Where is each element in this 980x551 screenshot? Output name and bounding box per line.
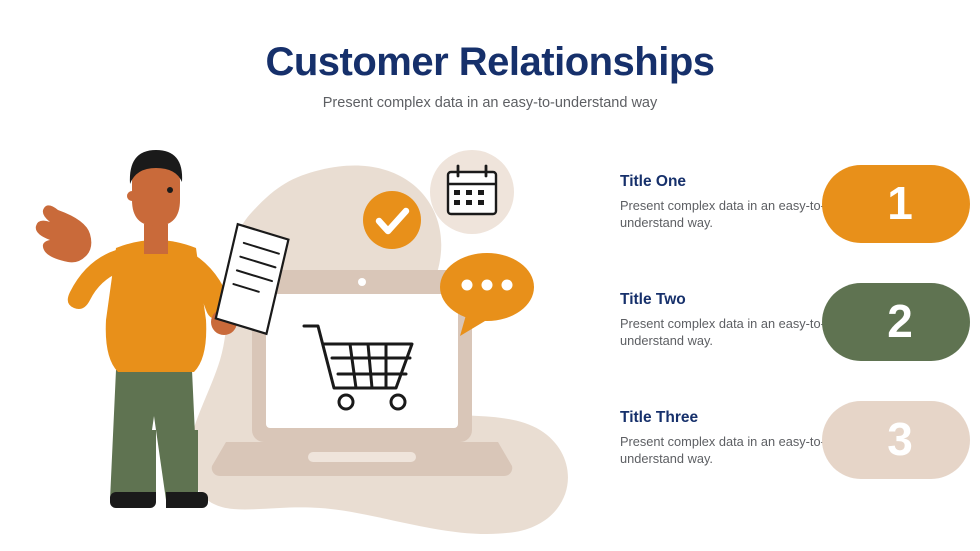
calendar-icon <box>430 150 514 234</box>
number-badge-3: 3 <box>822 401 970 479</box>
check-circle-icon <box>363 191 421 249</box>
number-badge-label: 2 <box>887 298 913 344</box>
number-badge-label: 1 <box>887 180 913 226</box>
illustration <box>20 130 590 540</box>
page-title: Customer Relationships <box>0 40 980 85</box>
list-item-title: Title Two <box>620 291 835 308</box>
number-badge-1: 1 <box>822 165 970 243</box>
feature-list: Title One Present complex data in an eas… <box>600 165 970 505</box>
list-item-text: Title One Present complex data in an eas… <box>620 173 835 232</box>
list-item-title: Title Three <box>620 409 835 426</box>
list-item[interactable]: Title Two Present complex data in an eas… <box>600 283 970 373</box>
list-item-title: Title One <box>620 173 835 190</box>
number-badge-2: 2 <box>822 283 970 361</box>
page-subtitle: Present complex data in an easy-to-under… <box>0 95 980 111</box>
list-item-text: Title Two Present complex data in an eas… <box>620 291 835 350</box>
list-item[interactable]: Title Three Present complex data in an e… <box>600 401 970 491</box>
list-item-description: Present complex data in an easy-to-under… <box>620 315 835 350</box>
illustration-svg <box>20 130 590 540</box>
list-item-text: Title Three Present complex data in an e… <box>620 409 835 468</box>
list-item-description: Present complex data in an easy-to-under… <box>620 197 835 232</box>
number-badge-label: 3 <box>887 416 913 462</box>
list-item[interactable]: Title One Present complex data in an eas… <box>600 165 970 255</box>
list-item-description: Present complex data in an easy-to-under… <box>620 433 835 468</box>
slide-root: Customer Relationships Present complex d… <box>0 0 980 551</box>
